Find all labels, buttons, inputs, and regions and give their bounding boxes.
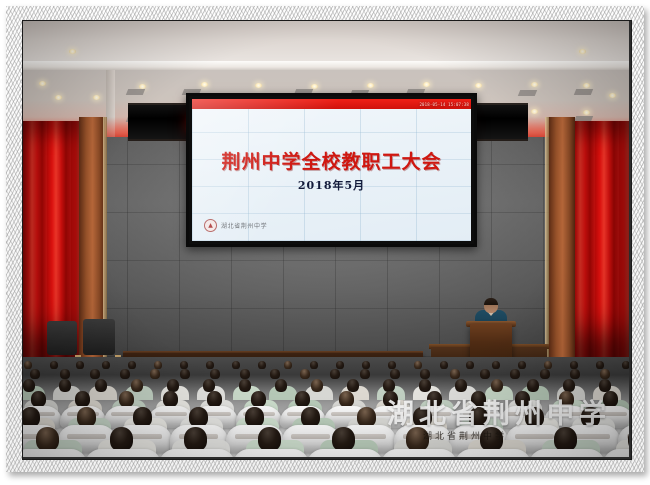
audience-head bbox=[525, 407, 544, 427]
audience-head bbox=[150, 369, 160, 379]
audience-head bbox=[119, 391, 134, 407]
audience-head bbox=[90, 369, 100, 379]
audience-head bbox=[480, 427, 503, 451]
audience-head bbox=[154, 361, 162, 369]
audience-head bbox=[184, 427, 207, 451]
audience-head bbox=[50, 361, 58, 369]
ceiling-vent-13 bbox=[574, 89, 593, 95]
audience-head bbox=[258, 361, 266, 369]
audience-head bbox=[544, 361, 552, 369]
audience-head bbox=[510, 369, 520, 379]
audience-head bbox=[414, 361, 422, 369]
audience-head bbox=[492, 361, 500, 369]
audience-head bbox=[491, 379, 503, 392]
audience-chair bbox=[23, 449, 87, 457]
audience-head bbox=[270, 369, 280, 379]
audience-head bbox=[347, 379, 359, 392]
audience-head bbox=[210, 369, 220, 379]
pillar-trim-right bbox=[545, 117, 549, 365]
audience-head bbox=[554, 427, 577, 451]
projection-screen-frame: 2018-05-14 15:07:38 荆州中学全校教职工大会 2018年5月 … bbox=[186, 93, 477, 247]
audience-head bbox=[540, 369, 550, 379]
audience-head bbox=[251, 391, 266, 407]
chair-cover-band bbox=[67, 434, 106, 439]
audience-head bbox=[570, 369, 580, 379]
downlight-icon-1 bbox=[39, 81, 46, 86]
downlight-icon-2 bbox=[93, 95, 100, 100]
audience-head bbox=[339, 391, 354, 407]
audience-head bbox=[440, 361, 448, 369]
audience-chair bbox=[381, 449, 457, 457]
audience-chair bbox=[159, 449, 235, 457]
audience-head bbox=[383, 391, 398, 407]
chair-cover-band bbox=[551, 412, 582, 416]
audience-head bbox=[390, 369, 400, 379]
photo-content: 湖北省荆州中学全校教职工大会 2018-05-14 15:07:38 荆州中学全… bbox=[23, 21, 629, 457]
audience-head bbox=[133, 407, 152, 427]
audience-head bbox=[600, 369, 610, 379]
audience-head bbox=[311, 379, 323, 392]
audience-head bbox=[120, 369, 130, 379]
audience-chair bbox=[233, 449, 309, 457]
audience-head bbox=[131, 379, 143, 392]
audience-head bbox=[31, 391, 46, 407]
audience-head bbox=[75, 391, 90, 407]
audience-head bbox=[471, 391, 486, 407]
audience-head bbox=[480, 369, 490, 379]
audience-head bbox=[245, 407, 264, 427]
audience-head bbox=[420, 369, 430, 379]
audience-head bbox=[232, 361, 240, 369]
downlight-icon-23 bbox=[579, 49, 586, 54]
audience-head bbox=[301, 407, 320, 427]
downlight-icon-7 bbox=[255, 83, 262, 88]
chair-cover-band bbox=[291, 434, 330, 439]
audience-chair bbox=[455, 449, 531, 457]
audience-head bbox=[469, 407, 488, 427]
audience-chair bbox=[529, 449, 605, 457]
audience-head bbox=[189, 407, 208, 427]
wood-pillar-right bbox=[549, 117, 575, 365]
audience-head bbox=[357, 407, 376, 427]
audience-head bbox=[518, 361, 526, 369]
audience-head bbox=[603, 391, 618, 407]
audience-head bbox=[128, 361, 136, 369]
audience-head bbox=[570, 361, 578, 369]
audience-head bbox=[258, 427, 281, 451]
audience-head bbox=[180, 369, 190, 379]
stage-chair-2 bbox=[83, 319, 115, 355]
chair-cover-band bbox=[571, 434, 610, 439]
audience-head bbox=[388, 361, 396, 369]
audience-head bbox=[239, 379, 251, 392]
audience-head bbox=[36, 427, 59, 451]
audience-head bbox=[206, 361, 214, 369]
audience-head bbox=[76, 361, 84, 369]
downlight-icon-13 bbox=[423, 82, 430, 87]
audience-head bbox=[622, 361, 629, 369]
audience-chair bbox=[85, 449, 161, 457]
chair-cover-band bbox=[155, 412, 186, 416]
audience-head bbox=[360, 369, 370, 379]
audience-head bbox=[466, 361, 474, 369]
audience-head bbox=[77, 407, 96, 427]
audience-head bbox=[23, 407, 40, 427]
audience-head bbox=[455, 379, 467, 392]
audience-head bbox=[23, 379, 35, 392]
downlight-icon-20 bbox=[583, 110, 590, 115]
audience-head bbox=[362, 361, 370, 369]
chair-cover-band bbox=[595, 412, 626, 416]
audience-head bbox=[450, 369, 460, 379]
audience-head bbox=[427, 391, 442, 407]
ceiling-upper bbox=[23, 21, 629, 63]
audience-head bbox=[95, 379, 107, 392]
audience-head bbox=[515, 391, 530, 407]
audience-head bbox=[24, 361, 32, 369]
audience-head bbox=[581, 407, 600, 427]
downlight-icon-22 bbox=[55, 95, 62, 100]
ceiling-vent-1 bbox=[126, 89, 145, 95]
audience-head bbox=[275, 379, 287, 392]
framed-photo: 湖北省荆州中学全校教职工大会 2018-05-14 15:07:38 荆州中学全… bbox=[0, 0, 650, 485]
downlight-icon-15 bbox=[475, 83, 482, 88]
audience-head bbox=[310, 361, 318, 369]
audience-head bbox=[295, 391, 310, 407]
audience-head bbox=[180, 361, 188, 369]
downlight-icon-19 bbox=[583, 83, 590, 88]
audience-head bbox=[332, 427, 355, 451]
ceiling-vent-12 bbox=[518, 90, 537, 96]
screen-glare bbox=[192, 99, 471, 241]
audience-head bbox=[207, 391, 222, 407]
audience-chair bbox=[307, 449, 383, 457]
audience-head bbox=[284, 361, 292, 369]
downlight-icon-5 bbox=[201, 82, 208, 87]
audience-head bbox=[413, 407, 432, 427]
downlight-icon-18 bbox=[531, 109, 538, 114]
chair-cover-band bbox=[515, 434, 554, 439]
audience-head bbox=[336, 361, 344, 369]
audience-head bbox=[102, 361, 110, 369]
audience-area bbox=[23, 357, 629, 457]
audience-head bbox=[330, 369, 340, 379]
stage-chair-1 bbox=[47, 321, 77, 355]
downlight-icon-24 bbox=[69, 49, 76, 54]
stage-curtain-right bbox=[571, 121, 629, 357]
downlight-icon-17 bbox=[531, 82, 538, 87]
audience-head bbox=[30, 369, 40, 379]
audience-head bbox=[527, 379, 539, 392]
speaker-head bbox=[484, 298, 498, 313]
audience-head bbox=[110, 427, 133, 451]
audience-head bbox=[300, 369, 310, 379]
audience-head bbox=[59, 379, 71, 392]
audience-head bbox=[596, 361, 604, 369]
audience-head bbox=[240, 369, 250, 379]
downlight-icon-11 bbox=[367, 83, 374, 88]
audience-head bbox=[60, 369, 70, 379]
chair-cover-band bbox=[375, 412, 406, 416]
audience-head bbox=[559, 391, 574, 407]
downlight-icon-21 bbox=[609, 93, 616, 98]
audience-head bbox=[406, 427, 429, 451]
projection-screen: 2018-05-14 15:07:38 荆州中学全校教职工大会 2018年5月 … bbox=[192, 99, 471, 241]
photo-window: 湖北省荆州中学全校教职工大会 2018-05-14 15:07:38 荆州中学全… bbox=[22, 20, 632, 460]
audience-head bbox=[163, 391, 178, 407]
audience-head bbox=[419, 379, 431, 392]
